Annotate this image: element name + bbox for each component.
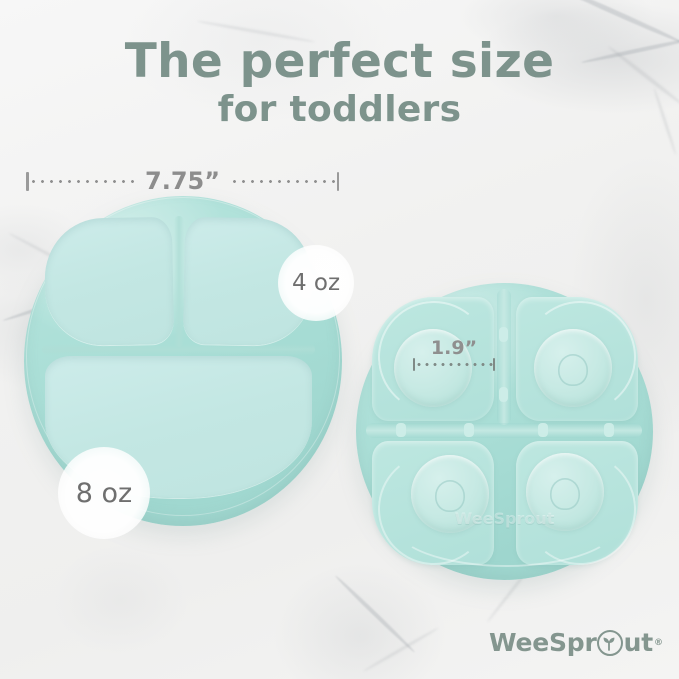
compartment-upper-left xyxy=(44,217,174,346)
registered-trademark-icon: ® xyxy=(654,638,663,648)
underside-rib-vertical xyxy=(497,289,511,425)
brand-name-part1: WeeSpr xyxy=(489,628,597,657)
plate-divider-vertical xyxy=(174,216,184,347)
badge-4oz: 4 oz xyxy=(278,245,354,321)
plate-width-dimension: 7.75” xyxy=(26,170,339,192)
dimension-cap-right xyxy=(337,172,340,191)
suction-cup-emboss xyxy=(558,354,588,386)
infographic-canvas: The perfect size for toddlers 7.75” xyxy=(0,0,679,679)
marble-vein xyxy=(334,574,416,653)
embossed-brand-mark: WeeSprout xyxy=(455,511,555,527)
brand-logo: WeeSpr ut ® xyxy=(489,628,663,657)
underside-nub xyxy=(499,387,508,402)
plate-width-label: 7.75” xyxy=(135,167,230,195)
sprout-leaf-icon xyxy=(597,630,623,656)
suction-cup-top-right xyxy=(534,329,612,407)
badge-8oz: 8 oz xyxy=(58,447,150,539)
marble-vein xyxy=(363,627,439,673)
underside-rib-horizontal xyxy=(366,423,642,438)
suction-dimension-cap-right xyxy=(493,358,495,371)
suction-cup-width-label: 1.9” xyxy=(413,338,495,358)
underside-nub xyxy=(396,423,406,437)
suction-cup-dimension: 1.9” xyxy=(413,338,495,368)
brand-name-part2: ut xyxy=(624,628,653,657)
underside-nub xyxy=(499,327,508,342)
dimension-leader-right xyxy=(230,180,337,183)
underside-nub xyxy=(604,423,614,437)
page-subtitle: for toddlers xyxy=(0,90,679,130)
dimension-leader-left xyxy=(29,180,136,183)
underside-nub xyxy=(538,423,548,437)
suction-dimension-leader xyxy=(415,363,493,366)
page-title: The perfect size xyxy=(0,36,679,88)
underside-nub xyxy=(464,423,474,437)
divided-plate-underside-view: WeeSprout xyxy=(356,283,653,580)
